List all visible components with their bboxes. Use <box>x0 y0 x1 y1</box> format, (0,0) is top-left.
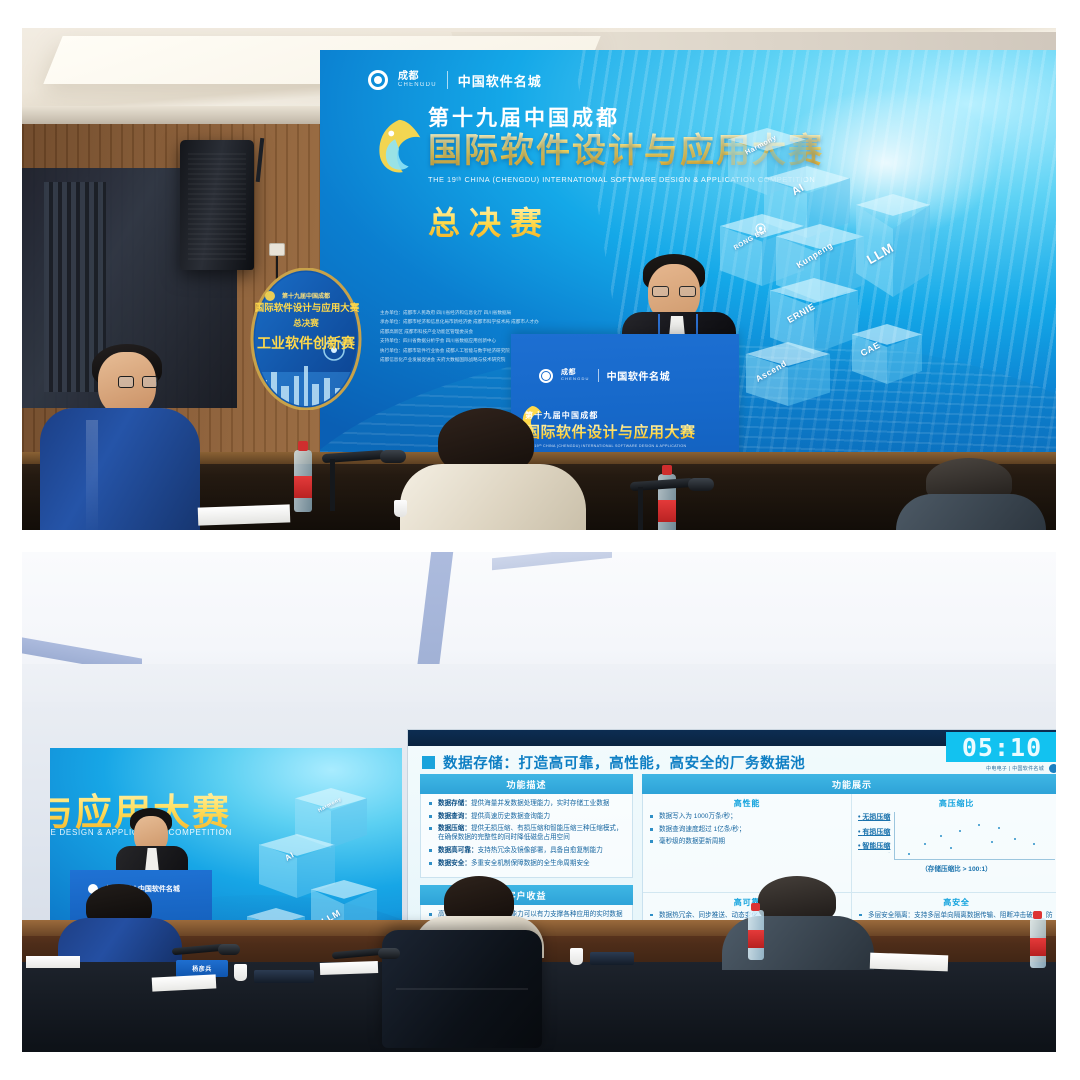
bullet-item: 数据压缩：提供无损压缩、有损压缩和智能压缩三种压缩模式，在确保数据的完整性的同时… <box>428 824 625 843</box>
countdown-timer: 05:10 <box>946 732 1056 762</box>
documents <box>26 956 80 968</box>
panel-header: 功能展示 <box>642 774 1056 794</box>
water-bottle <box>748 910 764 960</box>
cell-title: 高压缩比 <box>858 798 1055 809</box>
compression-mode: 无损压缩 <box>858 812 890 822</box>
dove-emblem-icon <box>370 116 428 178</box>
credit-line: 主办单位：成都市人民政府 四川省经济和信息化厅 四川省数据局 <box>380 308 630 317</box>
panel-body: 数据存储：提供海量并发数据处理能力，实时存储工业数据 数据查询：提供高速历史数据… <box>420 794 633 878</box>
svg-text:工业软件创新赛: 工业软件创新赛 <box>257 335 356 351</box>
compression-modes: 无损压缩 有损压缩 智能压缩 <box>858 812 890 856</box>
svg-text:总决赛: 总决赛 <box>293 318 319 328</box>
glasses-icon <box>118 376 158 388</box>
bullet-item: 数据存储：提供海量并发数据处理能力，实时存储工业数据 <box>428 799 625 808</box>
sponsor-logo-icon <box>1049 764 1056 773</box>
bullet-list: 数据存储：提供海量并发数据处理能力，实时存储工业数据 数据查询：提供高速历史数据… <box>428 799 625 868</box>
table-microphone <box>332 950 406 958</box>
water-bottle <box>294 450 312 512</box>
photo-collage: 成都 CHENGDU 中国软件名城 第十九届中国成都 国际软件设计与应用大赛 T… <box>0 0 1080 1080</box>
office-chair <box>382 930 542 1048</box>
judge-jacket <box>722 916 874 970</box>
title-bullet-square-icon <box>422 756 435 769</box>
compression-content: 无损压缩 有损压缩 智能压缩 –– –– – <box>858 812 1055 860</box>
slide-title-row: 数据存储：打造高可靠，高性能，高安全的厂务数据池 <box>422 752 805 773</box>
svg-text:国际软件设计与应用大赛: 国际软件设计与应用大赛 <box>255 302 360 314</box>
judge-back-gray <box>722 876 874 968</box>
bullet-item: 毫秒级的数据更新周期 <box>649 837 845 846</box>
judge-coat <box>400 464 586 530</box>
cell-title: 高性能 <box>649 798 845 809</box>
svg-text:第十九届中国成都: 第十九届中国成都 <box>281 292 330 300</box>
presenter-glasses-icon <box>652 286 696 297</box>
bottom-photograph: 与应用大赛 RE DESIGN & APPLICATION COMPETITIO… <box>22 552 1056 1052</box>
bullet-item: 数据写入为 1000万条/秒； <box>649 812 845 821</box>
brand-divider <box>447 71 448 89</box>
compression-mode: 智能压缩 <box>858 841 890 851</box>
judge-jacket <box>40 408 200 530</box>
wall-speaker <box>180 140 254 270</box>
documents <box>320 961 378 975</box>
judge-cream-coat <box>400 408 586 530</box>
top-photograph: 成都 CHENGDU 中国软件名城 第十九届中国成都 国际软件设计与应用大赛 T… <box>22 28 1056 530</box>
bullet-list: 数据写入为 1000万条/秒； 数据查询速度超过 1亿条/秒； 毫秒级的数据更新… <box>649 812 845 846</box>
bullet-item: 数据查询：提供高速历史数据查询能力 <box>428 812 625 821</box>
documents <box>870 953 949 972</box>
wall-outlet <box>269 243 285 256</box>
bullet-item: 数据查询速度超过 1亿条/秒； <box>649 825 845 834</box>
rongbei-logo-icon <box>754 222 767 235</box>
isometric-cube-graphic: Harmony AI RONG BEI <box>720 128 1050 458</box>
judge-back-blue <box>58 884 182 960</box>
compression-scatter-chart: –– –– – <box>894 812 1055 860</box>
compression-mode: 有损压缩 <box>858 827 890 837</box>
judge-jacket <box>896 494 1046 530</box>
credit-line: 承办单位：成都市经济和信息化局市新经济委 成都市科学技术局 成都市人才办 <box>380 317 630 326</box>
sponsor-text: 中电电子 | 中国软件名城 <box>986 765 1044 772</box>
chengdu-logo-icon <box>539 369 553 383</box>
ceiling-beam <box>492 552 612 570</box>
nameplate-text: 杨彦兵 <box>192 964 212 973</box>
podium-brand: 成都 CHENGDU 中国软件名城 <box>539 368 670 383</box>
podium-city: 成都 CHENGDU <box>561 369 590 381</box>
panel-function-description: 功能描述 数据存储：提供海量并发数据处理能力，实时存储工业数据 数据查询：提供高… <box>420 774 633 878</box>
slide-sponsor-logos: 中电电子 | 中国软件名城 <box>986 764 1056 773</box>
chengdu-city-pinyin: CHENGDU <box>398 82 437 89</box>
chengdu-city-name: 成都 <box>398 71 437 82</box>
table-microphone <box>630 480 722 490</box>
podium-tagline: 中国软件名城 <box>607 368 671 383</box>
papers <box>198 504 291 525</box>
water-bottle <box>1030 918 1046 968</box>
slide-title: 数据存储：打造高可靠，高性能，高安全的厂务数据池 <box>443 752 805 773</box>
brand-divider <box>598 369 599 382</box>
brand-tagline: 中国软件名城 <box>458 71 542 90</box>
cell-high-compression: 高压缩比 无损压缩 有损压缩 智能压缩 –– –– <box>852 794 1056 893</box>
presenter <box>114 804 190 874</box>
chengdu-brand-bar: 成都 CHENGDU 中国软件名城 <box>368 70 542 90</box>
bullet-item: 数据安全：多重安全机制保障数据的全生命周期安全 <box>428 859 625 868</box>
standing-oval-banner: 第十九届中国成都 国际软件设计与应用大赛 总决赛 工业软件创新赛 <box>250 268 362 410</box>
timer-value: 05:10 <box>962 733 1042 762</box>
chengdu-logo-text: 成都 CHENGDU <box>398 71 437 89</box>
paper-cup <box>394 500 407 517</box>
panel-header: 功能描述 <box>420 774 633 794</box>
compression-ratio-note: （存储压缩比 > 100:1） <box>858 863 1055 873</box>
table-microphone <box>172 946 246 954</box>
paper-cup <box>570 948 583 965</box>
paper-cup <box>234 964 247 981</box>
bullet-item: 数据高可靠：支持热冗余及镜像部署，具备自愈复制能力 <box>428 846 625 855</box>
cell-title: 高安全 <box>858 897 1055 908</box>
judge-gray-jacket <box>896 458 1046 530</box>
laptop <box>590 952 634 965</box>
judge-blue-jacket <box>40 352 208 530</box>
chengdu-logo-icon <box>368 70 388 90</box>
laptop <box>254 970 314 983</box>
